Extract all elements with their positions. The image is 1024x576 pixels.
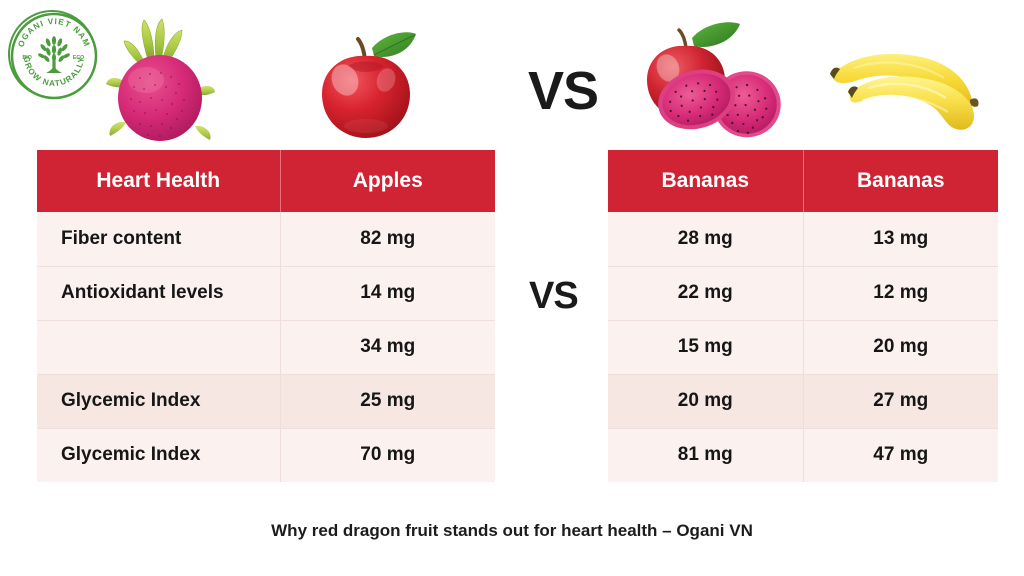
row-label: Antioxidant levels — [37, 266, 280, 320]
row-value-col1: 15 mg — [608, 320, 803, 374]
svg-text:ECO: ECO — [73, 55, 84, 61]
bananas-image — [824, 28, 988, 140]
dragon-fruit-whole-image — [104, 14, 216, 146]
row-value-col1: 22 mg — [608, 266, 803, 320]
vs-label-top: VS — [528, 64, 598, 118]
row-value-apples: 70 mg — [280, 428, 495, 482]
row-value-col2: 12 mg — [803, 266, 998, 320]
column-header-heart-health[interactable]: Heart Health — [37, 150, 280, 212]
row-label: Glycemic Index — [37, 374, 280, 428]
column-header-bananas-2[interactable]: Bananas — [803, 150, 998, 212]
vs-label-middle: VS — [529, 277, 578, 315]
column-header-apples[interactable]: Apples — [280, 150, 495, 212]
row-value-apples: 34 mg — [280, 320, 495, 374]
heart-health-comparison-table: Heart Health Apples Fiber content 82 mg … — [37, 150, 495, 482]
table-row: 28 mg 13 mg — [608, 212, 998, 266]
column-header-bananas-1[interactable]: Bananas — [608, 150, 803, 212]
row-value-col1: 28 mg — [608, 212, 803, 266]
table-row: Fiber content 82 mg — [37, 212, 495, 266]
table-row: 22 mg 12 mg — [608, 266, 998, 320]
row-value-col2: 20 mg — [803, 320, 998, 374]
row-value-col2: 47 mg — [803, 428, 998, 482]
red-apple-image — [312, 18, 420, 142]
table-header-row: Bananas Bananas — [608, 150, 998, 212]
table-row: Antioxidant levels 14 mg — [37, 266, 495, 320]
figure-caption: Why red dragon fruit stands out for hear… — [0, 521, 1024, 541]
table-row: 34 mg — [37, 320, 495, 374]
table-header-row: Heart Health Apples — [37, 150, 495, 212]
table-row: 20 mg 27 mg — [608, 374, 998, 428]
table-row: 81 mg 47 mg — [608, 428, 998, 482]
infographic-canvas: OGANI VIET NAM GROW NATURALLY BIO ECO — [0, 0, 1024, 576]
table-row: Glycemic Index 25 mg — [37, 374, 495, 428]
row-value-col2: 13 mg — [803, 212, 998, 266]
bananas-comparison-table: Bananas Bananas 28 mg 13 mg 22 mg 12 mg … — [608, 150, 998, 482]
row-label — [37, 320, 280, 374]
row-value-col1: 81 mg — [608, 428, 803, 482]
row-value-apples: 82 mg — [280, 212, 495, 266]
row-value-col2: 27 mg — [803, 374, 998, 428]
ogani-viet-nam-logo: OGANI VIET NAM GROW NATURALLY BIO ECO — [8, 10, 96, 98]
apple-and-dragon-fruit-halves-image — [634, 14, 794, 148]
table-row: 15 mg 20 mg — [608, 320, 998, 374]
row-label: Glycemic Index — [37, 428, 280, 482]
table-row: Glycemic Index 70 mg — [37, 428, 495, 482]
row-value-apples: 25 mg — [280, 374, 495, 428]
svg-text:BIO: BIO — [23, 55, 32, 61]
row-value-apples: 14 mg — [280, 266, 495, 320]
row-value-col1: 20 mg — [608, 374, 803, 428]
row-label: Fiber content — [37, 212, 280, 266]
